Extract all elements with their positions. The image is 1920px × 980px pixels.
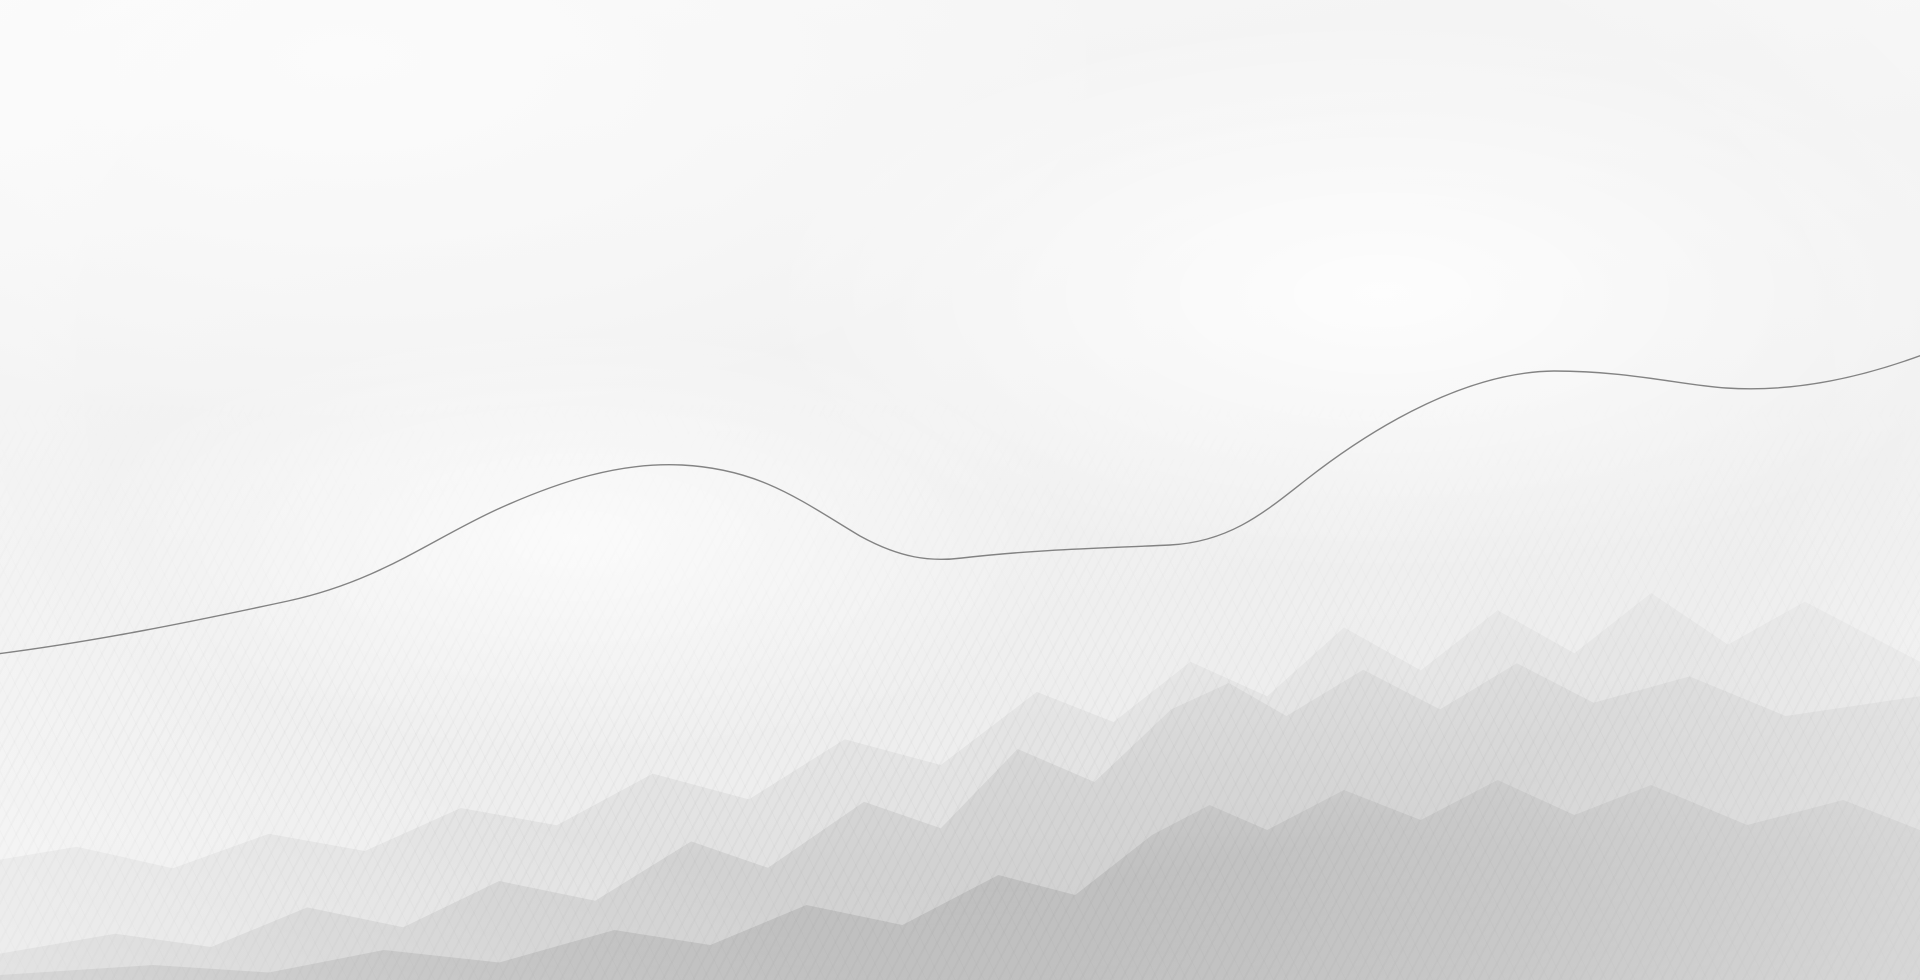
timeline-curve: [0, 0, 1920, 980]
timeline-poster: [0, 0, 1920, 980]
timeline-curve-path: [0, 352, 1920, 656]
